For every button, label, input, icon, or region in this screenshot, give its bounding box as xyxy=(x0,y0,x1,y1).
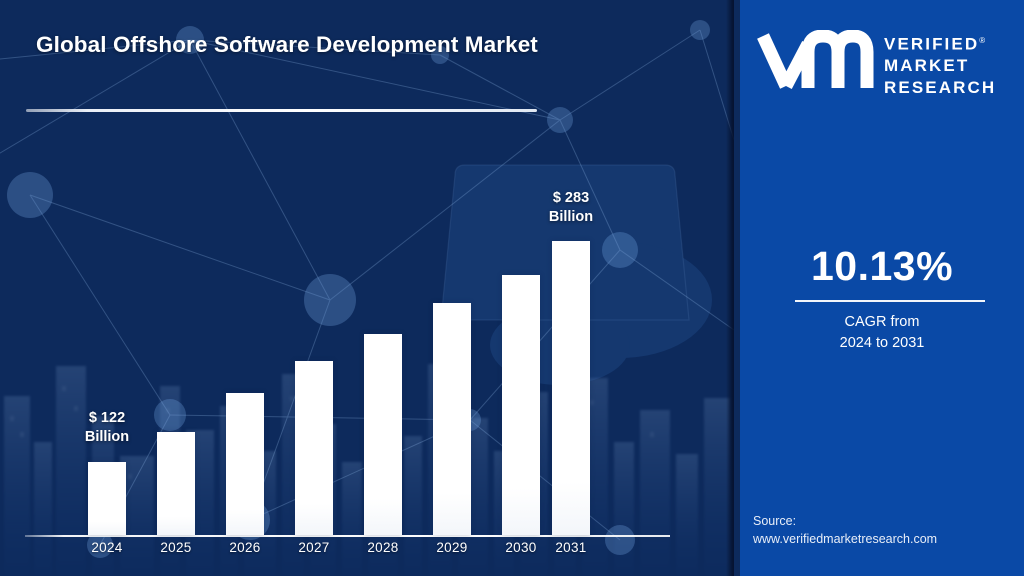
value-label-2024: $ 122 Billion xyxy=(59,409,155,447)
infographic-canvas: Global Offshore Software Development Mar… xyxy=(0,0,1024,576)
bar-2026[interactable] xyxy=(226,393,264,535)
bar-2029[interactable] xyxy=(433,303,471,535)
x-tick-2025: 2025 xyxy=(141,540,211,555)
value-label-2031-unit: Billion xyxy=(523,208,619,227)
bar-2025[interactable] xyxy=(157,432,195,535)
cagr-caption: CAGR from 2024 to 2031 xyxy=(740,312,1024,354)
x-tick-2026: 2026 xyxy=(210,540,280,555)
cagr-caption-line2: 2024 to 2031 xyxy=(740,333,1024,354)
x-tick-2028: 2028 xyxy=(348,540,418,555)
value-label-2024-unit: Billion xyxy=(59,428,155,447)
source-block: Source: www.verifiedmarketresearch.com xyxy=(753,512,1023,548)
value-label-2024-amount: $ 122 xyxy=(59,409,155,428)
x-tick-2029: 2029 xyxy=(417,540,487,555)
value-label-2031: $ 283 Billion xyxy=(523,189,619,227)
x-tick-2031: 2031 xyxy=(536,540,606,555)
cagr-caption-line1: CAGR from xyxy=(740,312,1024,333)
bar-2028[interactable] xyxy=(364,334,402,535)
x-tick-2027: 2027 xyxy=(279,540,349,555)
summary-panel-text: CAGR from 2024 to 2031 Source: www.verif… xyxy=(740,0,1024,576)
x-tick-2024: 2024 xyxy=(72,540,142,555)
bar-2030[interactable] xyxy=(502,275,540,535)
source-label: Source: xyxy=(753,512,1023,530)
bar-2031[interactable] xyxy=(552,241,590,535)
chart-panel: Global Offshore Software Development Mar… xyxy=(0,0,734,576)
bar-2027[interactable] xyxy=(295,361,333,535)
bar-chart: 2024 2025 2026 2027 2028 2029 2030 2031 … xyxy=(0,0,734,576)
bar-2024[interactable] xyxy=(88,462,126,535)
x-axis-line xyxy=(25,535,670,537)
source-url[interactable]: www.verifiedmarketresearch.com xyxy=(753,530,1023,548)
value-label-2031-amount: $ 283 xyxy=(523,189,619,208)
